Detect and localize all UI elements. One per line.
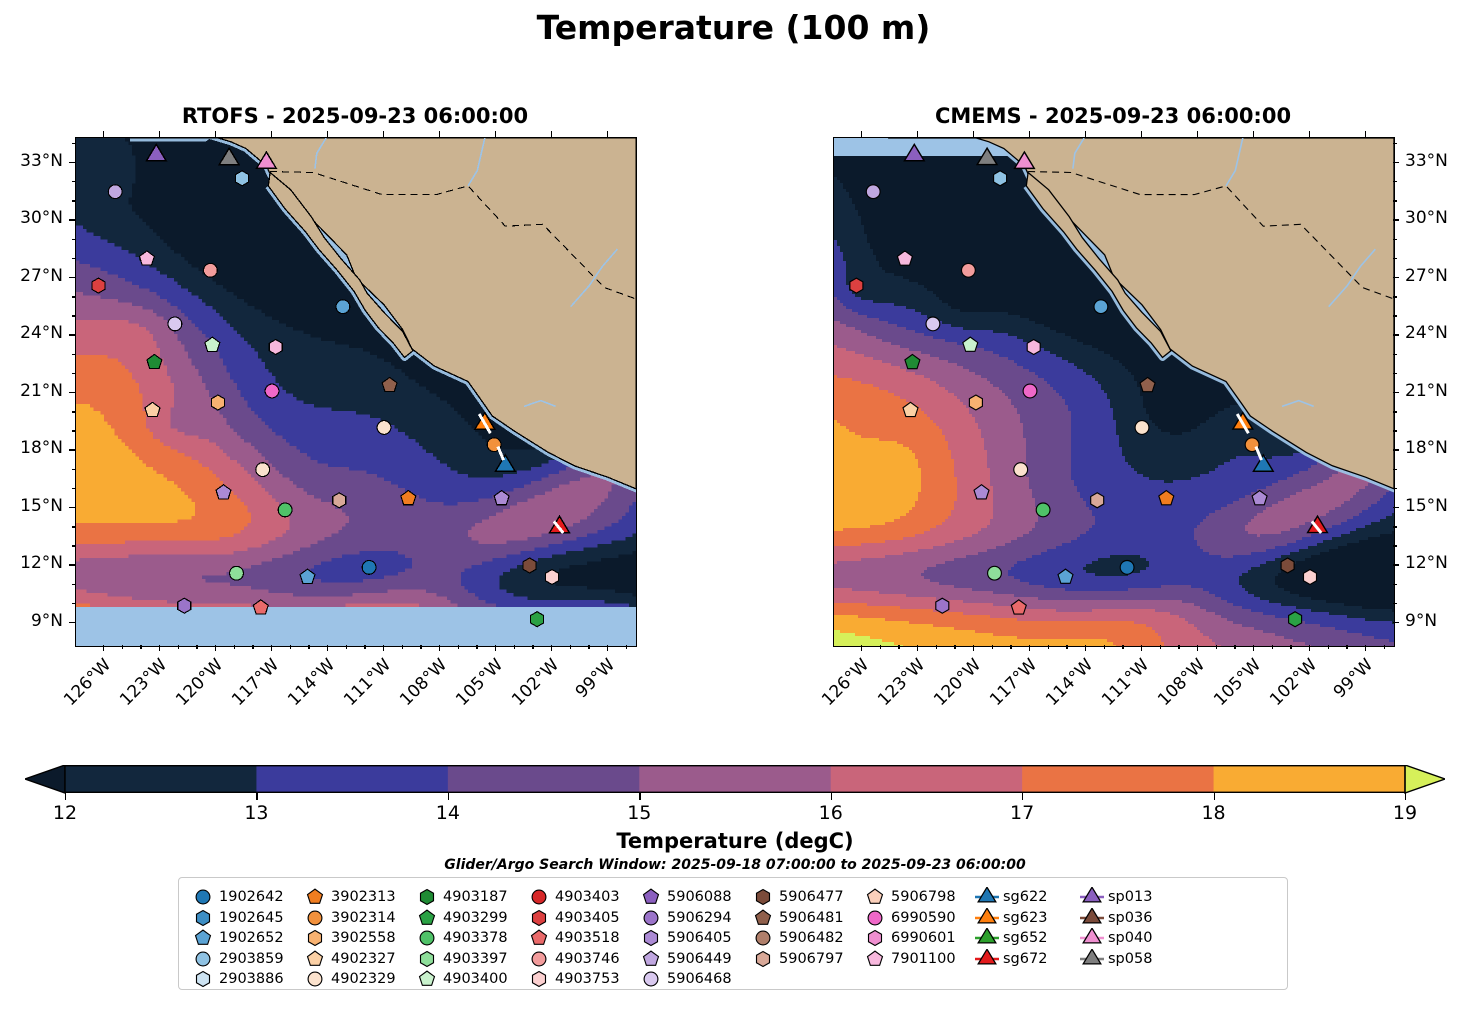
- legend-label: 3902314: [328, 910, 396, 926]
- lat-minor-tick: [1393, 584, 1397, 585]
- legend-item-5906798[interactable]: 5906798: [862, 887, 974, 908]
- lat-tick: [1393, 564, 1399, 565]
- legend-label: 2903886: [216, 971, 284, 987]
- lon-tick: [607, 645, 608, 651]
- lon-top-tick: [1197, 131, 1198, 137]
- lon-minor-tick: [1048, 645, 1049, 649]
- map-marker-4903746[interactable]: [962, 263, 976, 277]
- map-marker-4903397[interactable]: [988, 566, 1002, 580]
- lon-minor-tick: [1066, 645, 1067, 649]
- map-marker-1902652[interactable]: [336, 300, 350, 314]
- panel-title-rtofs: RTOFS - 2025-09-23 06:00:00: [75, 104, 635, 128]
- lon-top-tick: [1141, 131, 1142, 137]
- lon-tick-label: 120°W: [929, 655, 986, 712]
- legend-label: 5906482: [776, 930, 844, 946]
- legend-marker-1902642-icon: [190, 887, 216, 907]
- lon-tick: [103, 645, 104, 651]
- lon-minor-tick: [1178, 645, 1179, 649]
- map-marker-5906477[interactable]: [1281, 558, 1294, 573]
- map-marker-3902558[interactable]: [969, 395, 982, 410]
- legend-marker-6990590-icon: [862, 908, 888, 928]
- legend-column: 19026421902645190265229038592903886: [190, 887, 302, 990]
- legend-item-4903746[interactable]: 4903746: [526, 949, 638, 970]
- legend-item-4903753[interactable]: 4903753: [526, 969, 638, 990]
- legend-label: 4902329: [328, 971, 396, 987]
- lon-minor-tick: [532, 645, 533, 649]
- legend-label: 4903753: [552, 971, 620, 987]
- legend-label: 5906468: [664, 971, 732, 987]
- legend-label: sg652: [1000, 930, 1047, 946]
- lat-tick-label: 15°N: [0, 496, 63, 516]
- legend-item-4903403[interactable]: 4903403: [526, 887, 638, 908]
- legend-label: sp013: [1105, 889, 1152, 905]
- lon-minor-tick: [1104, 645, 1105, 649]
- colorbar-tick-label: 19: [1375, 802, 1435, 824]
- legend-item-3902314[interactable]: 3902314: [302, 908, 414, 929]
- lon-top-tick: [1309, 131, 1310, 137]
- legend-label: 6990590: [888, 910, 956, 926]
- legend-label: 4903299: [440, 910, 508, 926]
- lat-tick: [1393, 219, 1399, 220]
- lon-tick: [327, 645, 328, 651]
- lon-top-tick: [271, 131, 272, 137]
- lon-minor-tick: [1272, 645, 1273, 649]
- legend-marker-3902558-icon: [302, 928, 328, 948]
- lon-tick: [861, 645, 862, 651]
- lat-tick-label: 24°N: [1405, 323, 1448, 343]
- lat-tick: [1393, 449, 1399, 450]
- legend-marker-4903400-icon: [414, 969, 440, 989]
- lon-minor-tick: [1010, 645, 1011, 649]
- lat-tick: [1393, 622, 1399, 623]
- legend-item-3902313[interactable]: 3902313: [302, 887, 414, 908]
- lat-minor-tick: [1393, 373, 1397, 374]
- lon-tick-label: 123°W: [873, 655, 930, 712]
- legend-label: 4902327: [328, 951, 396, 967]
- lon-top-tick: [1029, 131, 1030, 137]
- lon-tick: [1197, 645, 1198, 651]
- map-marker-5906294[interactable]: [178, 598, 191, 613]
- lon-tick-label: 123°W: [115, 655, 172, 712]
- legend-label: 4903746: [552, 951, 620, 967]
- colorbar-tick-label: 17: [992, 802, 1052, 824]
- legend-item-sp036[interactable]: sp036: [1079, 908, 1184, 929]
- legend-marker-5906468-icon: [638, 969, 664, 989]
- lon-minor-tick: [140, 645, 141, 649]
- lat-tick: [69, 334, 75, 335]
- lat-tick: [1393, 392, 1399, 393]
- legend-marker-5906477-icon: [750, 887, 776, 907]
- legend-item-4903187[interactable]: 4903187: [414, 887, 526, 908]
- map-marker-1902642[interactable]: [362, 561, 376, 575]
- lon-minor-tick: [252, 645, 253, 649]
- legend-label: 4903378: [440, 930, 508, 946]
- legend-column: 5906477590648159064825906797: [750, 887, 862, 990]
- legend-column: 49031874903299490337849033974903400: [414, 887, 526, 990]
- lon-tick-label: 126°W: [817, 655, 874, 712]
- colorbar-tick: [448, 793, 449, 800]
- lon-tick-label: 126°W: [59, 655, 116, 712]
- map-marker-4903299[interactable]: [1289, 612, 1302, 627]
- legend-marker-4902327-icon: [302, 949, 328, 969]
- legend-label: 5906798: [888, 889, 956, 905]
- legend-item-sg623[interactable]: sg623: [974, 908, 1079, 929]
- legend-marker-4903378-icon: [414, 928, 440, 948]
- map-marker-5906468[interactable]: [926, 317, 940, 331]
- lat-minor-tick: [72, 296, 76, 297]
- legend-column: 39023133902314390255849023274902329: [302, 887, 414, 990]
- lon-tick: [1085, 645, 1086, 651]
- colorbar-tick: [1405, 793, 1406, 800]
- legend-marker-4903518-icon: [526, 928, 552, 948]
- lon-top-tick: [1085, 131, 1086, 137]
- lat-tick: [1393, 277, 1399, 278]
- lon-minor-tick: [1290, 645, 1291, 649]
- legend-item-5906449[interactable]: 5906449: [638, 949, 750, 970]
- lon-minor-tick: [1346, 645, 1347, 649]
- legend-label: sg672: [1000, 951, 1047, 967]
- lat-tick: [69, 162, 75, 163]
- legend-item-5906088[interactable]: 5906088: [638, 887, 750, 908]
- lon-tick-label: 108°W: [1153, 655, 1210, 712]
- legend-item-4903299[interactable]: 4903299: [414, 908, 526, 929]
- legend-marker-7901100-icon: [862, 949, 888, 969]
- legend-item-5906797[interactable]: 5906797: [750, 949, 862, 970]
- legend-marker-2903886-icon: [190, 969, 216, 989]
- legend-label: sp058: [1105, 951, 1152, 967]
- legend-item-sp013[interactable]: sp013: [1079, 887, 1184, 908]
- legend-label: 4903400: [440, 971, 508, 987]
- colorbar-tick-label: 15: [609, 802, 669, 824]
- lon-tick-label: 114°W: [283, 655, 340, 712]
- legend-marker-4903403-icon: [526, 887, 552, 907]
- legend-label: 4903403: [552, 889, 620, 905]
- lon-minor-tick: [1384, 645, 1385, 649]
- lat-minor-tick: [1393, 354, 1397, 355]
- legend-label: 6990601: [888, 930, 956, 946]
- legend-label: 5906477: [776, 889, 844, 905]
- legend-marker-4903299-icon: [414, 908, 440, 928]
- lat-tick-label: 33°N: [0, 151, 63, 171]
- lon-tick-label: 111°W: [1097, 655, 1154, 712]
- legend-marker-2903859-icon: [190, 949, 216, 969]
- legend-label: 5906797: [776, 951, 844, 967]
- legend-marker-1902645-icon: [190, 908, 216, 928]
- legend-item-sp040[interactable]: sp040: [1079, 928, 1184, 949]
- lat-tick-label: 9°N: [1405, 611, 1437, 631]
- legend-marker-sg672-icon: [974, 949, 1000, 969]
- lat-tick-label: 18°N: [0, 438, 63, 458]
- legend-column: 49034034903405490351849037464903753: [526, 887, 638, 990]
- legend-column: 59060885906294590640559064495906468: [638, 887, 750, 990]
- lat-minor-tick: [72, 200, 76, 201]
- figure-title: Temperature (100 m): [0, 8, 1467, 47]
- legend-item-2903859[interactable]: 2903859: [190, 949, 302, 970]
- lat-tick: [69, 449, 75, 450]
- lat-minor-tick: [72, 584, 76, 585]
- lat-minor-tick: [72, 411, 76, 412]
- lon-top-tick: [439, 131, 440, 137]
- lat-minor-tick: [1393, 239, 1397, 240]
- legend-item-5906294[interactable]: 5906294: [638, 908, 750, 929]
- legend-label: 5906481: [776, 910, 844, 926]
- map-marker-4903299[interactable]: [531, 612, 544, 627]
- map-marker-4903746[interactable]: [204, 263, 218, 277]
- lon-top-tick: [1365, 131, 1366, 137]
- map-marker-4902329[interactable]: [1135, 421, 1149, 435]
- legend-item-4902327[interactable]: 4902327: [302, 949, 414, 970]
- lat-tick: [1393, 334, 1399, 335]
- lon-top-tick: [973, 131, 974, 137]
- lat-minor-tick: [72, 258, 76, 259]
- lon-minor-tick: [1160, 645, 1161, 649]
- colorbar-label: Temperature (degC): [25, 829, 1445, 853]
- map-marker-6990590[interactable]: [265, 384, 279, 398]
- legend-label: 5906449: [664, 951, 732, 967]
- legend-marker-sg622-icon: [974, 887, 1000, 907]
- lon-top-tick: [861, 131, 862, 137]
- lon-minor-tick: [1122, 645, 1123, 649]
- legend-marker-4903746-icon: [526, 949, 552, 969]
- legend-item-4902329[interactable]: 4902329: [302, 969, 414, 990]
- lon-minor-tick: [234, 645, 235, 649]
- legend-item-4903378[interactable]: 4903378: [414, 928, 526, 949]
- lon-tick-label: 111°W: [339, 655, 396, 712]
- colorbar-tick: [1214, 793, 1215, 800]
- map-marker-5906468[interactable]: [168, 317, 182, 331]
- lon-tick-label: 120°W: [171, 655, 228, 712]
- lat-tick: [69, 507, 75, 508]
- lat-minor-tick: [1393, 411, 1397, 412]
- lat-tick-label: 33°N: [1405, 151, 1448, 171]
- lon-minor-tick: [290, 645, 291, 649]
- colorbar-tick: [831, 793, 832, 800]
- colorbar-tick: [256, 793, 257, 800]
- map-axes-rtofs[interactable]: [75, 137, 637, 647]
- legend-label: 1902652: [216, 930, 284, 946]
- lat-tick: [69, 622, 75, 623]
- legend-marker-sg652-icon: [974, 928, 1000, 948]
- legend-item-4903397[interactable]: 4903397: [414, 949, 526, 970]
- map-marker-2903859[interactable]: [236, 171, 249, 186]
- map-marker-3902558[interactable]: [211, 395, 224, 410]
- lat-minor-tick: [1393, 315, 1397, 316]
- legend-item-5906468[interactable]: 5906468: [638, 969, 750, 990]
- lat-tick: [69, 564, 75, 565]
- legend-label: 4903518: [552, 930, 620, 946]
- legend-marker-4903405-icon: [526, 908, 552, 928]
- legend-item-1902642[interactable]: 1902642: [190, 887, 302, 908]
- legend-item-2903886[interactable]: 2903886: [190, 969, 302, 990]
- lon-minor-tick: [476, 645, 477, 649]
- lon-minor-tick: [898, 645, 899, 649]
- map-marker-4903405[interactable]: [92, 278, 105, 293]
- map-marker-5906797[interactable]: [333, 493, 346, 508]
- legend-item-7901100[interactable]: 7901100: [862, 949, 974, 970]
- colorbar-tick-label: 16: [801, 802, 861, 824]
- legend-item-sg622[interactable]: sg622: [974, 887, 1079, 908]
- legend-marker-sg623-icon: [974, 908, 1000, 928]
- map-marker-4902329[interactable]: [1014, 463, 1028, 477]
- legend-item-6990590[interactable]: 6990590: [862, 908, 974, 929]
- map-marker-6990601[interactable]: [269, 340, 282, 355]
- lat-tick: [69, 392, 75, 393]
- legend-label: 5906294: [664, 910, 732, 926]
- colorbar-tick: [639, 793, 640, 800]
- legend-item-5906477[interactable]: 5906477: [750, 887, 862, 908]
- lat-tick-label: 9°N: [0, 611, 63, 631]
- legend-label: 4903187: [440, 889, 508, 905]
- legend-label: 3902558: [328, 930, 396, 946]
- map-marker-5906449[interactable]: [866, 185, 880, 199]
- legend-label: 2903859: [216, 951, 284, 967]
- legend-label: sg623: [1000, 910, 1047, 926]
- lon-top-tick: [917, 131, 918, 137]
- search-window-subtitle: Glider/Argo Search Window: 2025-09-18 07…: [25, 857, 1445, 873]
- lat-minor-tick: [72, 469, 76, 470]
- map-marker-6990590[interactable]: [1023, 384, 1037, 398]
- legend-item-1902645[interactable]: 1902645: [190, 908, 302, 929]
- lat-tick: [69, 277, 75, 278]
- colorbar-tick: [65, 793, 66, 800]
- map-marker-1902652[interactable]: [1094, 300, 1108, 314]
- map-marker-5906449[interactable]: [108, 185, 122, 199]
- lon-tick: [1309, 645, 1310, 651]
- lat-minor-tick: [72, 181, 76, 182]
- legend-label: sg622: [1000, 889, 1047, 905]
- legend-item-4903518[interactable]: 4903518: [526, 928, 638, 949]
- lon-tick: [495, 645, 496, 651]
- lon-top-tick: [327, 131, 328, 137]
- legend-item-sg652[interactable]: sg652: [974, 928, 1079, 949]
- lon-minor-tick: [880, 645, 881, 649]
- legend-marker-5906449-icon: [638, 949, 664, 969]
- map-marker-2903859[interactable]: [994, 171, 1007, 186]
- legend-marker-sp013-icon: [1079, 887, 1105, 907]
- map-marker-1902642[interactable]: [1120, 561, 1134, 575]
- lat-minor-tick: [1393, 469, 1397, 470]
- colorbar-tick-label: 12: [35, 802, 95, 824]
- lon-tick: [917, 645, 918, 651]
- lon-minor-tick: [458, 645, 459, 649]
- map-marker-6990601[interactable]: [1027, 340, 1040, 355]
- platform-legend[interactable]: 1902642190264519026522903859290388639023…: [178, 877, 1288, 990]
- lon-top-tick: [551, 131, 552, 137]
- lat-tick-label: 24°N: [0, 323, 63, 343]
- lon-tick-label: 108°W: [395, 655, 452, 712]
- legend-item-sp058[interactable]: sp058: [1079, 949, 1184, 970]
- lat-minor-tick: [72, 373, 76, 374]
- lat-minor-tick: [1393, 296, 1397, 297]
- lat-minor-tick: [1393, 143, 1397, 144]
- legend-item-3902558[interactable]: 3902558: [302, 928, 414, 949]
- lat-minor-tick: [72, 430, 76, 431]
- lon-tick-label: 105°W: [1209, 655, 1266, 712]
- lon-tick: [1365, 645, 1366, 651]
- legend-marker-6990601-icon: [862, 928, 888, 948]
- lat-tick-label: 12°N: [0, 553, 63, 573]
- lon-top-tick: [383, 131, 384, 137]
- lon-tick-label: 114°W: [1041, 655, 1098, 712]
- lon-top-tick: [607, 131, 608, 137]
- legend-marker-4902329-icon: [302, 969, 328, 989]
- map-marker-5906294[interactable]: [936, 598, 949, 613]
- lon-minor-tick: [402, 645, 403, 649]
- map-marker-4902329[interactable]: [256, 463, 270, 477]
- colorbar-tick-label: 14: [418, 802, 478, 824]
- legend-label: 1902645: [216, 910, 284, 926]
- map-marker-4903378[interactable]: [278, 503, 292, 517]
- legend-marker-5906405-icon: [638, 928, 664, 948]
- map-marker-4903397[interactable]: [230, 566, 244, 580]
- lat-minor-tick: [1393, 526, 1397, 527]
- legend-marker-1902652-icon: [190, 928, 216, 948]
- legend-item-5906481[interactable]: 5906481: [750, 908, 862, 929]
- lon-minor-tick: [992, 645, 993, 649]
- lon-top-tick: [495, 131, 496, 137]
- lon-tick-label: 117°W: [227, 655, 284, 712]
- lon-tick-label: 117°W: [985, 655, 1042, 712]
- lon-minor-tick: [936, 645, 937, 649]
- lon-tick: [159, 645, 160, 651]
- legend-marker-5906481-icon: [750, 908, 776, 928]
- lon-minor-tick: [346, 645, 347, 649]
- map-marker-4903753[interactable]: [1304, 570, 1317, 585]
- legend-column: sg622sg623sg652sg672: [974, 887, 1079, 990]
- legend-marker-3902314-icon: [302, 908, 328, 928]
- legend-item-1902652[interactable]: 1902652: [190, 928, 302, 949]
- legend-item-4903400[interactable]: 4903400: [414, 969, 526, 990]
- legend-marker-3902313-icon: [302, 887, 328, 907]
- lon-minor-tick: [588, 645, 589, 649]
- map-marker-4903753[interactable]: [546, 570, 559, 585]
- legend-item-6990601[interactable]: 6990601: [862, 928, 974, 949]
- map-marker-5906797[interactable]: [1091, 493, 1104, 508]
- legend-item-5906405[interactable]: 5906405: [638, 928, 750, 949]
- colorbar-tick-label: 18: [1184, 802, 1244, 824]
- lon-tick-label: 99°W: [563, 655, 620, 712]
- legend-label: 5906088: [664, 889, 732, 905]
- lat-tick-label: 21°N: [0, 381, 63, 401]
- legend-item-sg672[interactable]: sg672: [974, 949, 1079, 970]
- map-axes-cmems[interactable]: [833, 137, 1395, 647]
- legend-label: 4903397: [440, 951, 508, 967]
- lat-tick-label: 18°N: [1405, 438, 1448, 458]
- map-marker-4902329[interactable]: [377, 421, 391, 435]
- lat-tick: [1393, 507, 1399, 508]
- legend-marker-5906294-icon: [638, 908, 664, 928]
- lon-tick-label: 102°W: [507, 655, 564, 712]
- lon-tick: [383, 645, 384, 651]
- legend-marker-5906797-icon: [750, 949, 776, 969]
- lon-tick-label: 99°W: [1321, 655, 1378, 712]
- legend-label: 4903405: [552, 910, 620, 926]
- legend-marker-sp040-icon: [1079, 928, 1105, 948]
- lat-tick: [1393, 162, 1399, 163]
- lon-minor-tick: [196, 645, 197, 649]
- map-marker-4903405[interactable]: [850, 278, 863, 293]
- lon-minor-tick: [420, 645, 421, 649]
- legend-item-4903405[interactable]: 4903405: [526, 908, 638, 929]
- lat-minor-tick: [1393, 181, 1397, 182]
- lon-minor-tick: [570, 645, 571, 649]
- map-marker-4903378[interactable]: [1036, 503, 1050, 517]
- map-marker-5906477[interactable]: [523, 558, 536, 573]
- lon-top-tick: [103, 131, 104, 137]
- legend-item-5906482[interactable]: 5906482: [750, 928, 862, 949]
- lon-minor-tick: [1216, 645, 1217, 649]
- lat-minor-tick: [72, 239, 76, 240]
